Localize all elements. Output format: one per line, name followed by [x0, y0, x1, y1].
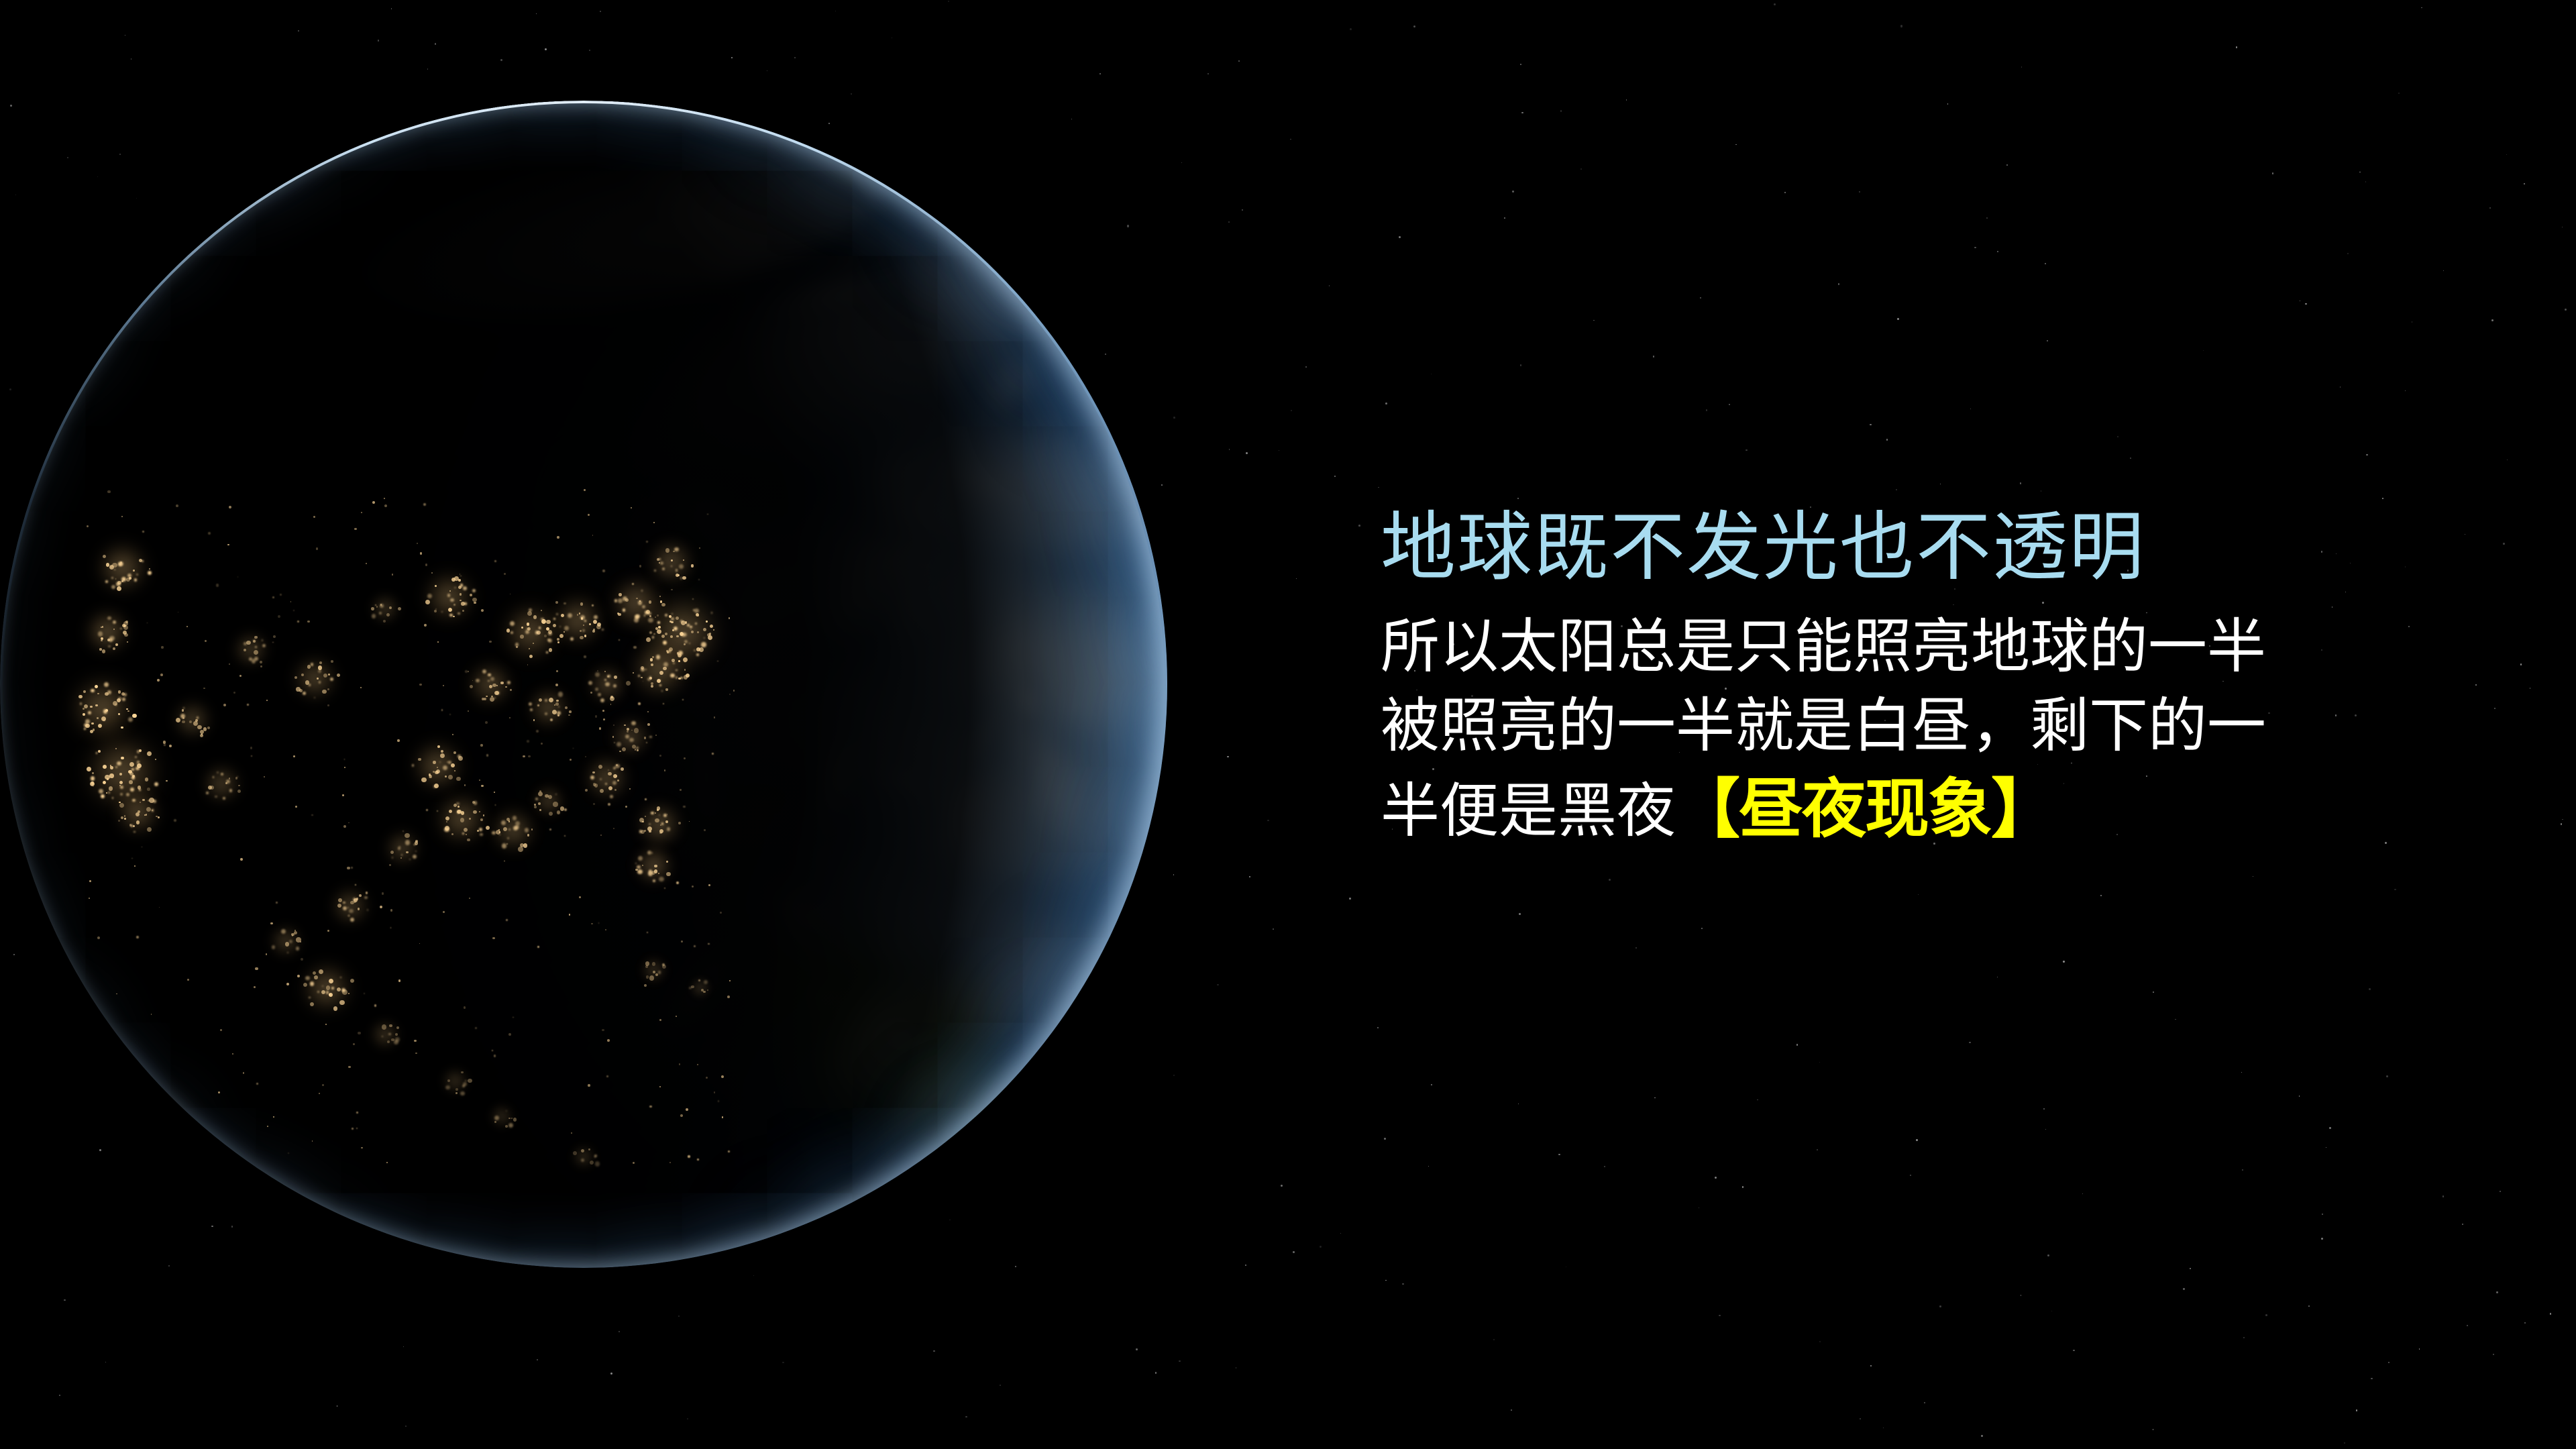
star — [1279, 450, 1280, 451]
city-light — [433, 785, 436, 788]
city-light — [435, 771, 438, 774]
city-light — [309, 997, 311, 999]
city-light — [330, 678, 333, 681]
city-light — [513, 816, 517, 820]
city-light — [593, 783, 596, 786]
city-light — [163, 741, 166, 743]
city-light — [97, 717, 99, 719]
city-light — [545, 699, 547, 702]
city-light — [413, 855, 417, 859]
city-light — [376, 606, 378, 608]
city-light — [529, 608, 532, 612]
cloud-band — [637, 636, 1043, 804]
polar-ice-cap — [341, 108, 896, 351]
city-glow — [640, 956, 668, 984]
star — [1784, 192, 1786, 193]
city-light — [449, 810, 452, 813]
city-light — [518, 847, 523, 851]
city-light — [402, 830, 405, 833]
star — [1819, 1062, 1820, 1063]
city-light — [287, 952, 288, 953]
city-light — [651, 682, 653, 685]
city-light — [619, 593, 622, 596]
city-light — [537, 631, 541, 635]
star — [2047, 1254, 2049, 1256]
city-light — [147, 788, 150, 790]
city-light — [394, 1040, 398, 1044]
star — [1181, 162, 1182, 163]
city-light — [121, 516, 123, 517]
city-light — [389, 606, 392, 609]
city-light — [124, 633, 128, 637]
city-light — [541, 619, 546, 624]
city-light — [118, 697, 121, 700]
city-light — [681, 621, 686, 625]
city-light — [260, 661, 262, 663]
city-light — [469, 898, 470, 899]
city-light — [458, 579, 461, 582]
city-glow — [384, 830, 421, 866]
city-light — [489, 685, 492, 688]
city-light — [633, 1162, 635, 1165]
city-light — [319, 681, 321, 684]
day-night-phenomenon-emphasis: 【昼夜现象】 — [1676, 773, 2054, 845]
city-light — [565, 706, 568, 709]
city-light — [208, 786, 212, 790]
star — [1207, 73, 1209, 74]
city-light — [720, 912, 722, 914]
city-light — [128, 717, 133, 722]
city-glow — [331, 886, 370, 926]
city-light — [627, 728, 630, 731]
city-light — [109, 773, 113, 777]
city-light — [297, 975, 300, 977]
city-light — [648, 871, 653, 875]
city-light — [649, 823, 651, 825]
city-light — [674, 627, 678, 631]
city-light — [347, 914, 350, 917]
city-light — [358, 908, 360, 910]
city-light — [466, 834, 466, 835]
city-light — [496, 685, 498, 686]
city-light — [311, 663, 314, 666]
star — [1558, 1154, 1560, 1156]
city-light — [278, 615, 280, 618]
city-light — [182, 720, 185, 724]
star — [600, 11, 602, 13]
city-light — [711, 612, 713, 614]
city-light — [678, 651, 683, 655]
city-light — [714, 1091, 716, 1093]
city-light — [437, 810, 438, 812]
city-light — [680, 677, 682, 679]
city-light — [223, 797, 226, 800]
city-light — [301, 674, 304, 676]
city-light — [294, 931, 297, 934]
city-light — [131, 824, 133, 827]
city-light — [727, 996, 730, 998]
city-light — [657, 809, 659, 811]
city-light — [544, 635, 547, 637]
city-light — [494, 697, 496, 699]
city-light — [513, 1017, 514, 1018]
cloud-wisp — [692, 1032, 742, 1087]
city-light — [136, 936, 139, 938]
city-light — [156, 816, 158, 818]
city-light — [482, 669, 486, 674]
city-light — [354, 528, 357, 531]
star — [1340, 1233, 1341, 1234]
city-light — [327, 930, 330, 932]
city-light — [708, 635, 712, 640]
star — [1566, 1267, 1566, 1267]
city-light — [158, 816, 160, 818]
star — [1706, 409, 1708, 411]
city-light — [678, 653, 682, 657]
city-light — [646, 742, 647, 743]
city-light — [129, 577, 131, 580]
star — [1385, 402, 1387, 405]
city-light — [507, 681, 511, 684]
city-light — [456, 802, 459, 805]
city-light — [657, 621, 660, 624]
city-light — [429, 775, 431, 778]
city-light — [131, 775, 135, 779]
city-light — [382, 1024, 386, 1029]
cloud-wisp — [815, 729, 853, 803]
city-light — [310, 1002, 314, 1006]
city-light — [639, 600, 641, 602]
city-light — [133, 831, 136, 833]
city-light — [557, 536, 559, 539]
city-light — [569, 710, 572, 713]
city-light — [527, 664, 528, 665]
city-light — [614, 742, 615, 743]
city-light — [464, 1006, 466, 1008]
city-light — [419, 943, 421, 945]
city-light — [108, 645, 111, 648]
star — [1520, 364, 1522, 366]
city-light — [557, 638, 560, 641]
city-light — [83, 708, 85, 710]
city-light — [273, 1116, 274, 1117]
city-light — [619, 751, 621, 753]
city-light — [226, 780, 231, 784]
city-light — [321, 990, 326, 995]
star — [1981, 1435, 1983, 1437]
city-light — [693, 609, 696, 612]
city-light — [659, 558, 661, 560]
city-light — [555, 702, 559, 706]
city-light — [186, 626, 188, 627]
city-light — [115, 704, 117, 706]
city-glow — [115, 790, 160, 835]
city-light — [435, 608, 437, 610]
city-light — [446, 821, 447, 822]
city-light — [647, 932, 648, 933]
star — [2500, 1191, 2501, 1192]
city-light — [460, 574, 461, 575]
cloud-wisp — [783, 522, 928, 675]
city-light — [350, 979, 354, 983]
city-light — [329, 979, 333, 983]
city-light — [655, 818, 659, 823]
city-light — [229, 789, 233, 792]
star — [2190, 1268, 2191, 1269]
city-light — [659, 877, 664, 882]
city-light — [250, 747, 252, 749]
city-light — [101, 640, 103, 642]
star — [1358, 525, 1360, 527]
star — [2398, 93, 2400, 95]
city-light — [137, 763, 142, 768]
city-light — [460, 1091, 465, 1096]
city-light — [655, 627, 658, 630]
city-glow — [611, 578, 661, 628]
city-light — [468, 710, 469, 712]
city-light — [390, 927, 392, 928]
city-light — [318, 669, 321, 673]
city-light — [120, 628, 121, 629]
city-light — [669, 647, 674, 652]
city-light — [358, 1032, 360, 1034]
city-light — [197, 716, 199, 719]
city-light — [229, 506, 231, 508]
city-light — [585, 756, 587, 758]
city-light — [672, 613, 673, 614]
city-light — [479, 811, 480, 812]
city-light — [116, 582, 121, 586]
city-light — [296, 687, 300, 691]
city-light — [327, 688, 329, 690]
city-light — [613, 724, 614, 726]
city-glow — [86, 735, 159, 808]
city-light — [409, 859, 411, 860]
city-light — [643, 681, 644, 682]
city-light — [244, 642, 247, 645]
city-light — [671, 589, 673, 591]
star — [2047, 340, 2048, 341]
city-light — [213, 776, 214, 777]
city-light — [645, 965, 648, 968]
city-light — [238, 785, 239, 786]
city-light — [350, 918, 354, 922]
city-light — [131, 768, 134, 771]
city-light — [429, 775, 433, 778]
star — [1378, 487, 1379, 488]
city-light — [142, 847, 143, 848]
city-light — [468, 1079, 472, 1083]
city-light — [617, 612, 619, 614]
city-light — [389, 864, 391, 866]
city-light — [293, 610, 294, 611]
city-light — [552, 710, 557, 714]
city-light — [644, 614, 646, 616]
city-glow — [370, 593, 400, 624]
city-light — [448, 775, 453, 780]
city-light — [120, 786, 123, 789]
city-light — [262, 644, 266, 647]
city-light — [169, 745, 172, 747]
landmass — [769, 956, 1051, 1205]
city-glow — [85, 609, 130, 654]
city-light — [686, 674, 690, 678]
city-light — [187, 979, 189, 981]
city-light — [323, 674, 327, 678]
city-light — [441, 750, 443, 753]
city-light — [327, 704, 329, 706]
city-light — [501, 820, 506, 825]
city-light — [595, 688, 598, 691]
city-light — [704, 829, 706, 831]
city-light — [233, 692, 235, 694]
city-light — [555, 684, 558, 686]
city-light — [701, 989, 704, 991]
city-light — [592, 771, 595, 774]
city-light — [127, 710, 129, 712]
city-light — [101, 627, 102, 628]
city-light — [666, 861, 668, 863]
star — [2475, 684, 2477, 686]
star — [1431, 1084, 1432, 1085]
city-light — [286, 983, 289, 985]
city-light — [110, 766, 113, 769]
city-light — [112, 563, 117, 568]
city-light — [463, 586, 467, 590]
city-light — [161, 646, 164, 649]
city-light — [651, 852, 653, 854]
city-light — [598, 693, 601, 696]
city-light — [525, 828, 529, 832]
city-light — [122, 698, 125, 701]
city-light — [129, 824, 132, 826]
city-light — [90, 782, 95, 786]
city-light — [189, 720, 193, 724]
cloud-wisp — [864, 439, 937, 497]
city-light — [443, 911, 444, 912]
city-light — [475, 1027, 478, 1030]
city-light — [122, 624, 125, 627]
city-light — [401, 854, 403, 856]
city-light — [489, 641, 491, 643]
city-light — [696, 653, 700, 657]
city-light — [127, 574, 131, 578]
city-light — [380, 604, 384, 608]
city-light — [563, 631, 566, 633]
city-light — [548, 795, 552, 799]
city-light — [437, 767, 438, 768]
city-light — [462, 610, 464, 612]
star — [1349, 898, 1351, 900]
city-light — [535, 798, 538, 800]
city-light — [531, 828, 533, 830]
city-light — [95, 704, 98, 707]
city-light — [397, 739, 400, 742]
city-light — [595, 715, 598, 718]
city-light — [635, 863, 637, 864]
city-light — [102, 626, 103, 627]
city-light — [142, 531, 144, 533]
city-light — [638, 702, 640, 704]
city-light — [547, 639, 550, 641]
star — [1997, 251, 1998, 252]
city-light — [669, 621, 672, 623]
city-light — [710, 625, 713, 628]
city-light — [398, 607, 401, 610]
city-light — [281, 929, 286, 934]
city-light — [262, 639, 264, 641]
city-light — [639, 818, 644, 822]
star — [2183, 1288, 2184, 1289]
city-light — [494, 792, 495, 793]
city-light — [667, 650, 671, 653]
city-light — [123, 625, 128, 630]
city-light — [451, 763, 455, 767]
city-light — [138, 786, 142, 790]
city-light — [98, 631, 103, 636]
city-light — [149, 798, 154, 803]
city-light — [584, 635, 587, 637]
city-light — [593, 803, 595, 805]
city-light — [593, 629, 595, 631]
city-light — [654, 865, 657, 867]
city-light — [638, 675, 640, 677]
city-light — [128, 770, 132, 774]
city-light — [507, 837, 510, 840]
star — [1900, 25, 1902, 27]
city-light — [556, 670, 558, 672]
city-light — [659, 1019, 661, 1021]
city-light — [548, 639, 552, 643]
star — [2299, 1095, 2300, 1096]
city-light — [109, 638, 113, 642]
city-light — [449, 590, 451, 592]
city-light — [139, 749, 142, 752]
city-light — [119, 802, 120, 803]
city-light — [467, 839, 470, 842]
city-light — [313, 516, 315, 518]
city-light — [556, 700, 559, 702]
city-glow — [647, 595, 720, 668]
city-light — [580, 636, 584, 640]
city-light — [140, 802, 141, 803]
city-light — [240, 858, 243, 861]
star — [2117, 436, 2118, 437]
city-light — [144, 814, 146, 816]
city-light — [558, 692, 563, 696]
city-light — [508, 820, 511, 822]
city-light — [458, 806, 460, 808]
city-light — [115, 748, 117, 750]
city-light — [608, 803, 610, 806]
city-light — [499, 832, 501, 834]
city-light — [498, 829, 500, 830]
city-light — [426, 809, 428, 811]
city-light — [708, 884, 710, 886]
city-light — [482, 698, 484, 700]
city-light — [343, 825, 346, 828]
star — [1580, 168, 1582, 170]
city-light — [597, 670, 599, 672]
star — [1859, 191, 1860, 193]
city-light — [549, 698, 553, 702]
city-light — [118, 713, 120, 715]
city-light — [207, 727, 210, 729]
city-light — [509, 717, 511, 718]
city-light — [538, 802, 541, 805]
city-light — [504, 861, 505, 862]
city-glow — [424, 572, 474, 622]
